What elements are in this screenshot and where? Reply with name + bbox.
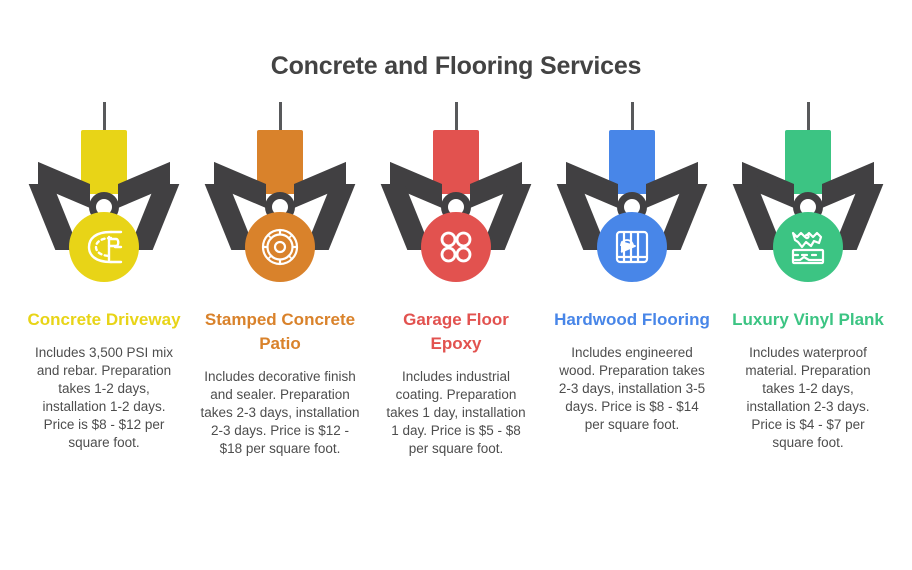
service-column-garage-floor-epoxy: Garage Floor Epoxy Includes industrial c… bbox=[368, 96, 544, 458]
curved-road-icon bbox=[81, 224, 127, 270]
claw-wire-icon bbox=[455, 102, 458, 132]
service-description: Includes waterproof material. Preparatio… bbox=[733, 344, 883, 452]
service-column-concrete-driveway: Concrete Driveway Includes 3,500 PSI mix… bbox=[16, 96, 192, 452]
service-heading: Hardwood Flooring bbox=[552, 308, 712, 332]
icon-circle bbox=[597, 212, 667, 282]
service-heading: Concrete Driveway bbox=[24, 308, 184, 332]
icon-circle bbox=[69, 212, 139, 282]
claw-graphic bbox=[192, 96, 368, 296]
claw-wire-icon bbox=[279, 102, 282, 132]
claw-wire-icon bbox=[807, 102, 810, 132]
claw-graphic bbox=[368, 96, 544, 296]
service-heading: Luxury Vinyl Plank bbox=[728, 308, 888, 332]
service-description: Includes 3,500 PSI mix and rebar. Prepar… bbox=[31, 344, 177, 452]
claw-wire-icon bbox=[631, 102, 634, 132]
service-column-stamped-concrete-patio: Stamped Concrete Patio Includes decorati… bbox=[192, 96, 368, 458]
icon-circle bbox=[245, 212, 315, 282]
service-columns: Concrete Driveway Includes 3,500 PSI mix… bbox=[16, 96, 896, 458]
stamped-pattern-icon bbox=[257, 224, 303, 270]
service-column-hardwood-flooring: Hardwood Flooring Includes engineered wo… bbox=[544, 96, 720, 434]
hardwood-planks-icon bbox=[609, 224, 655, 270]
icon-circle bbox=[421, 212, 491, 282]
icon-circle bbox=[773, 212, 843, 282]
claw-graphic bbox=[544, 96, 720, 296]
waterproof-plank-icon bbox=[785, 224, 831, 270]
claw-graphic bbox=[16, 96, 192, 296]
service-description: Includes decorative finish and sealer. P… bbox=[200, 368, 360, 458]
service-description: Includes industrial coating. Preparation… bbox=[381, 368, 531, 458]
claw-graphic bbox=[720, 96, 896, 296]
page-title: Concrete and Flooring Services bbox=[0, 52, 912, 81]
service-heading: Garage Floor Epoxy bbox=[376, 308, 536, 356]
service-heading: Stamped Concrete Patio bbox=[200, 308, 360, 356]
claw-wire-icon bbox=[103, 102, 106, 132]
infographic-page: Concrete and Flooring Services bbox=[0, 0, 912, 570]
epoxy-flakes-icon bbox=[433, 224, 479, 270]
service-column-luxury-vinyl-plank: Luxury Vinyl Plank Includes waterproof m… bbox=[720, 96, 896, 452]
service-description: Includes engineered wood. Preparation ta… bbox=[556, 344, 708, 434]
